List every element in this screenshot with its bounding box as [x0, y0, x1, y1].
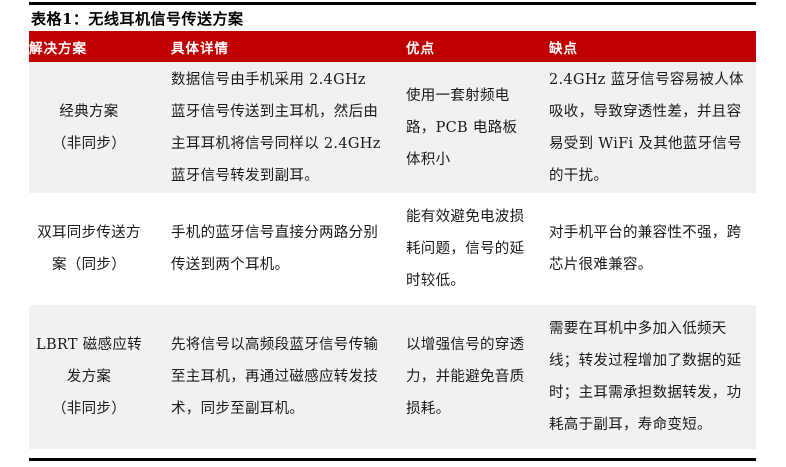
cell-disadvantages: 需要在耳机中多加入低频天线；转发过程增加了数据的延时；主耳需承担数据转发，功耗高… — [535, 313, 756, 441]
table-header-row: 解决方案 具体详情 优点 缺点 — [29, 31, 756, 62]
table-row: LBRT 磁感应转发方案（非同步） 先将信号以高频段蓝牙信号传输至主耳机，再通过… — [29, 305, 756, 449]
document-page: 表格1：无线耳机信号传送方案 解决方案 具体详情 优点 缺点 经典方案（非同步）… — [0, 0, 786, 467]
table-row: 经典方案（非同步） 数据信号由手机采用 2.4GHz 蓝牙信号传送到主耳机，然后… — [29, 62, 756, 193]
cell-details: 手机的蓝牙信号直接分两路分别传送到两个耳机。 — [149, 217, 392, 281]
cell-advantages: 能有效避免电波损耗问题，信号的延时较低。 — [392, 201, 535, 297]
table-caption: 表格1：无线耳机信号传送方案 — [29, 6, 756, 30]
cell-disadvantages: 对手机平台的兼容性不强，跨芯片很难兼容。 — [535, 217, 756, 281]
table-top-rule — [29, 2, 756, 5]
cell-solution: 双耳同步传送方案（同步） — [29, 217, 149, 281]
signal-transmission-table: 解决方案 具体详情 优点 缺点 经典方案（非同步） 数据信号由手机采用 2.4G… — [29, 31, 756, 449]
cell-disadvantages: 2.4GHz 蓝牙信号容易被人体吸收，导致穿透性差，并且容易受到 WiFi 及其… — [535, 64, 756, 192]
cell-solution: LBRT 磁感应转发方案（非同步） — [29, 329, 149, 425]
cell-advantages: 使用一套射频电路，PCB 电路板体积小 — [392, 80, 535, 176]
column-header-solution: 解决方案 — [29, 37, 149, 57]
cell-details: 先将信号以高频段蓝牙信号传输至主耳机，再通过磁感应转发技术，同步至副耳机。 — [149, 329, 392, 425]
table-row: 双耳同步传送方案（同步） 手机的蓝牙信号直接分两路分别传送到两个耳机。 能有效避… — [29, 193, 756, 305]
cell-advantages: 以增强信号的穿透力，并能避免音质损耗。 — [392, 329, 535, 425]
column-header-disadvantages: 缺点 — [535, 37, 756, 57]
column-header-details: 具体详情 — [149, 37, 392, 57]
column-header-advantages: 优点 — [392, 37, 535, 57]
cell-details: 数据信号由手机采用 2.4GHz 蓝牙信号传送到主耳机，然后由主耳耳机将信号同样… — [149, 64, 392, 192]
cell-solution: 经典方案（非同步） — [29, 96, 149, 160]
table-bottom-rule — [29, 458, 756, 461]
